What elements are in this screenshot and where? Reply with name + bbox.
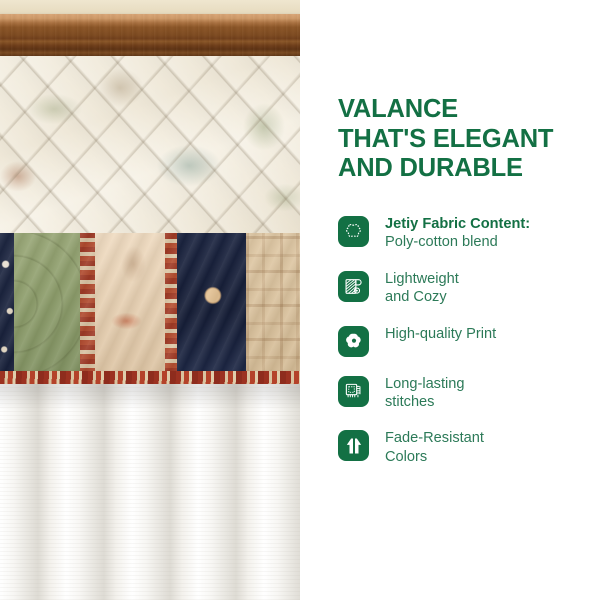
- list-item: Fade-Resistant Colors: [338, 428, 586, 466]
- feature-list: Jetiy Fabric Content: Poly-cotton blend …: [338, 214, 586, 483]
- list-item-text: Lightweight and Cozy: [385, 269, 459, 307]
- list-item-lead: Fade-Resistant: [385, 430, 484, 446]
- page-title: VALANCE THAT'S ELEGANT AND DURABLE: [338, 0, 586, 184]
- copy-panel: VALANCE THAT'S ELEGANT AND DURABLE Jetiy…: [300, 0, 600, 600]
- garment-shirt-icon: [338, 430, 369, 461]
- sheer-curtain-region: [0, 384, 300, 600]
- list-item-sub: Poly-cotton blend: [385, 233, 530, 251]
- headline-line-2: THAT'S ELEGANT: [338, 125, 586, 155]
- patch-peach-cream: [95, 233, 166, 375]
- list-item: Long-lasting stitches: [338, 374, 586, 412]
- quilted-fabric-region: [0, 56, 300, 233]
- list-item-sub: stitches: [385, 393, 465, 411]
- patch-red-floral-band: [80, 233, 95, 375]
- headline-line-3: AND DURABLE: [338, 154, 586, 184]
- list-item-text: Long-lasting stitches: [385, 374, 465, 412]
- list-item-sub: and Cozy: [385, 288, 459, 306]
- patch-navy-floral: [0, 233, 14, 375]
- list-item-text: High-quality Print: [385, 324, 496, 343]
- microchip-stitch-icon: [338, 376, 369, 407]
- list-item-lead: High-quality Print: [385, 326, 496, 342]
- product-photo: [0, 0, 300, 600]
- binding-trim-region: [0, 371, 300, 385]
- list-item: High-quality Print: [338, 324, 586, 357]
- list-item-text: Jetiy Fabric Content: Poly-cotton blend: [385, 214, 530, 252]
- list-item-sub: Colors: [385, 448, 484, 466]
- headline-line-1: VALANCE: [338, 95, 586, 125]
- list-item-text: Fade-Resistant Colors: [385, 428, 484, 466]
- hide-leather-icon: [338, 216, 369, 247]
- promo-graphic: VALANCE THAT'S ELEGANT AND DURABLE Jetiy…: [0, 0, 600, 600]
- wooden-cornice-region: [0, 14, 300, 58]
- patch-navy-with-flower: [177, 233, 246, 375]
- list-item: Jetiy Fabric Content: Poly-cotton blend: [338, 214, 586, 252]
- fabric-roll-icon: [338, 271, 369, 302]
- patchwork-band-region: [0, 233, 300, 375]
- patch-tan-plaid: [246, 233, 300, 375]
- patch-red-floral-band-2: [165, 233, 177, 375]
- list-item-lead: Lightweight: [385, 271, 459, 287]
- patch-sage-green: [14, 233, 80, 375]
- flower-icon: [338, 326, 369, 357]
- list-item-lead: Jetiy Fabric Content:: [385, 216, 530, 232]
- list-item: Lightweight and Cozy: [338, 269, 586, 307]
- list-item-lead: Long-lasting: [385, 376, 465, 392]
